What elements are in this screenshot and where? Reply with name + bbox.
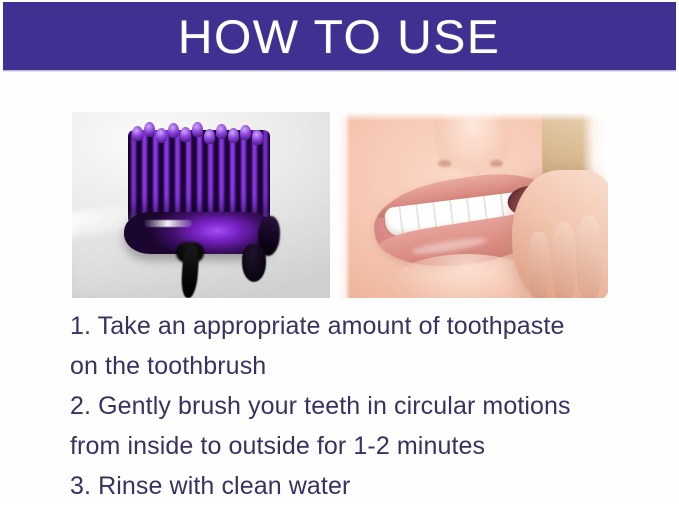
header-banner: HOW TO USE [3, 2, 676, 70]
bristle-tip [156, 128, 167, 143]
smiling-woman-photo [338, 112, 608, 298]
page-title: HOW TO USE [178, 13, 501, 60]
bristle-tip [180, 127, 191, 142]
bristle-tip [216, 124, 227, 139]
instruction-line: 3. Rinse with clean water [70, 466, 660, 506]
photo-row [72, 112, 608, 298]
bristle-tip [228, 128, 239, 143]
photo-background-left [338, 112, 350, 298]
finger [552, 222, 576, 298]
nostril-left [438, 160, 451, 167]
bristle-tip [192, 122, 203, 137]
bristle-tip [144, 122, 155, 137]
instruction-line: on the toothbrush [70, 346, 660, 386]
bristle-tip [204, 129, 215, 144]
toothbrush-head-highlight [144, 220, 192, 227]
bristle-tip [132, 126, 143, 141]
bristle-tip [240, 125, 251, 140]
instruction-list: 1. Take an appropriate amount of toothpa… [70, 306, 660, 506]
charcoal-paste-blob [242, 244, 266, 282]
nostril-right [490, 160, 503, 167]
instruction-line: 1. Take an appropriate amount of toothpa… [70, 306, 660, 346]
toothbrush-bristles [128, 130, 270, 222]
finger [528, 232, 550, 298]
bristle-tip [252, 130, 263, 145]
toothbrush-photo [72, 112, 330, 298]
photo-background-top [338, 112, 608, 121]
infographic-page: HOW TO USE [0, 0, 679, 498]
bristle-tip [168, 123, 179, 138]
finger [576, 216, 602, 298]
instruction-line: 2. Gently brush your teeth in circular m… [70, 386, 660, 426]
hand-on-cheek [512, 170, 608, 298]
instruction-line: from inside to outside for 1-2 minutes [70, 426, 660, 466]
